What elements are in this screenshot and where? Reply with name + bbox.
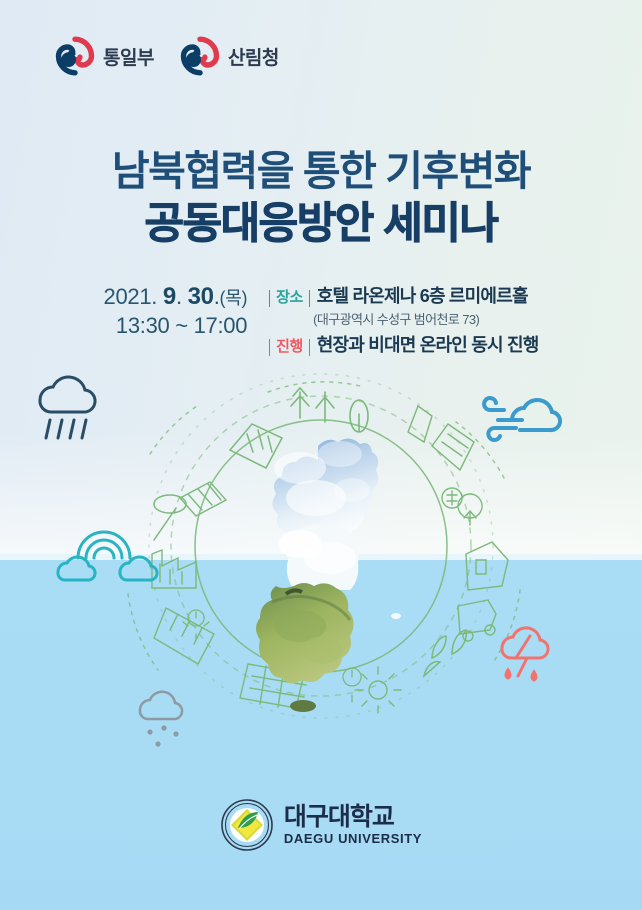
organizer-name: 통일부	[103, 43, 154, 70]
organizer-name: 산림청	[228, 43, 279, 70]
detail-place: 장소 호텔 라온제나 6층 르미에르홀	[269, 282, 538, 308]
weather-icon-rainbow-cloud	[58, 532, 157, 580]
weather-icon-rain-cloud	[40, 377, 95, 438]
ring-icon-city-blocks	[154, 608, 214, 664]
detail-value-mode: 현장과 비대면 온라인 동시 진행	[317, 331, 539, 357]
illustration	[0, 358, 642, 778]
poster-title: 남북협력을 통한 기후변화 공동대응방안 세미나	[0, 148, 642, 250]
organizer-logo-forest-service: 산림청	[180, 36, 279, 76]
event-schedule: 2021. 9. 30.(목) 13:30 ~ 17:00	[104, 281, 248, 341]
host-logo: 대구대학교 DAEGU UNIVERSITY	[0, 798, 642, 852]
detail-tag-mode: 진행	[269, 339, 310, 356]
event-details: 장소 호텔 라온제나 6층 르미에르홀 (대구광역시 수성구 범어천로 73) …	[269, 281, 538, 357]
seminar-poster: 통일부 산림청 남북협력을 통한 기후변화 공동대응방안 세미나 2021. 9…	[0, 0, 642, 910]
title-line-2: 공동대응방안 세미나	[0, 200, 642, 249]
korea-government-taegeuk-emblem-icon	[180, 36, 220, 76]
weather-icon-thunderstorm	[502, 628, 548, 680]
ring-icon-truck	[458, 600, 496, 641]
host-name: 대구대학교 DAEGU UNIVERSITY	[284, 805, 422, 845]
host-name-ko: 대구대학교	[284, 805, 422, 830]
event-time: 13:30 ~ 17:00	[104, 312, 248, 341]
date-year: 2021.	[104, 284, 158, 309]
daegu-university-seal-icon	[220, 798, 274, 852]
event-info: 2021. 9. 30.(목) 13:30 ~ 17:00 장소 호텔 라온제나…	[0, 281, 642, 357]
organizer-logos: 통일부 산림청	[55, 36, 279, 76]
event-date: 2021. 9. 30.(목)	[104, 282, 248, 312]
ring-icon-leaves	[424, 630, 466, 676]
host-name-en: DAEGU UNIVERSITY	[284, 832, 422, 845]
detail-mode: 진행 현장과 비대면 온라인 동시 진행	[269, 331, 538, 357]
jeju-island	[290, 700, 316, 712]
ring-icon-building	[230, 424, 282, 468]
detail-address: (대구광역시 수성구 범어천로 73)	[313, 309, 538, 328]
date-day-of-week: (목)	[220, 288, 248, 308]
detail-value-place: 호텔 라온제나 6층 르미에르홀	[317, 282, 528, 308]
weather-icon-wind-cloud	[484, 398, 560, 440]
islet	[391, 613, 401, 619]
korean-peninsula-map	[256, 438, 401, 712]
ring-icon-sun	[355, 667, 401, 713]
date-month: 9	[163, 283, 176, 310]
ring-icon-factory	[152, 550, 196, 588]
ring-icon-highrise	[408, 406, 474, 470]
date-day: 30	[188, 283, 214, 310]
date-dot-1: .	[176, 284, 182, 309]
ring-icon-solar-panel	[180, 482, 226, 516]
organizer-logo-unification: 통일부	[55, 36, 154, 76]
weather-icon-snow-cloud	[140, 692, 182, 747]
ring-icon-coin	[442, 488, 462, 508]
title-line-1: 남북협력을 통한 기후변화	[0, 148, 642, 195]
korea-government-taegeuk-emblem-icon	[55, 36, 95, 76]
ring-icon-turbine	[154, 495, 186, 540]
ring-icon-house	[466, 542, 508, 590]
detail-tag-place: 장소	[269, 290, 310, 307]
